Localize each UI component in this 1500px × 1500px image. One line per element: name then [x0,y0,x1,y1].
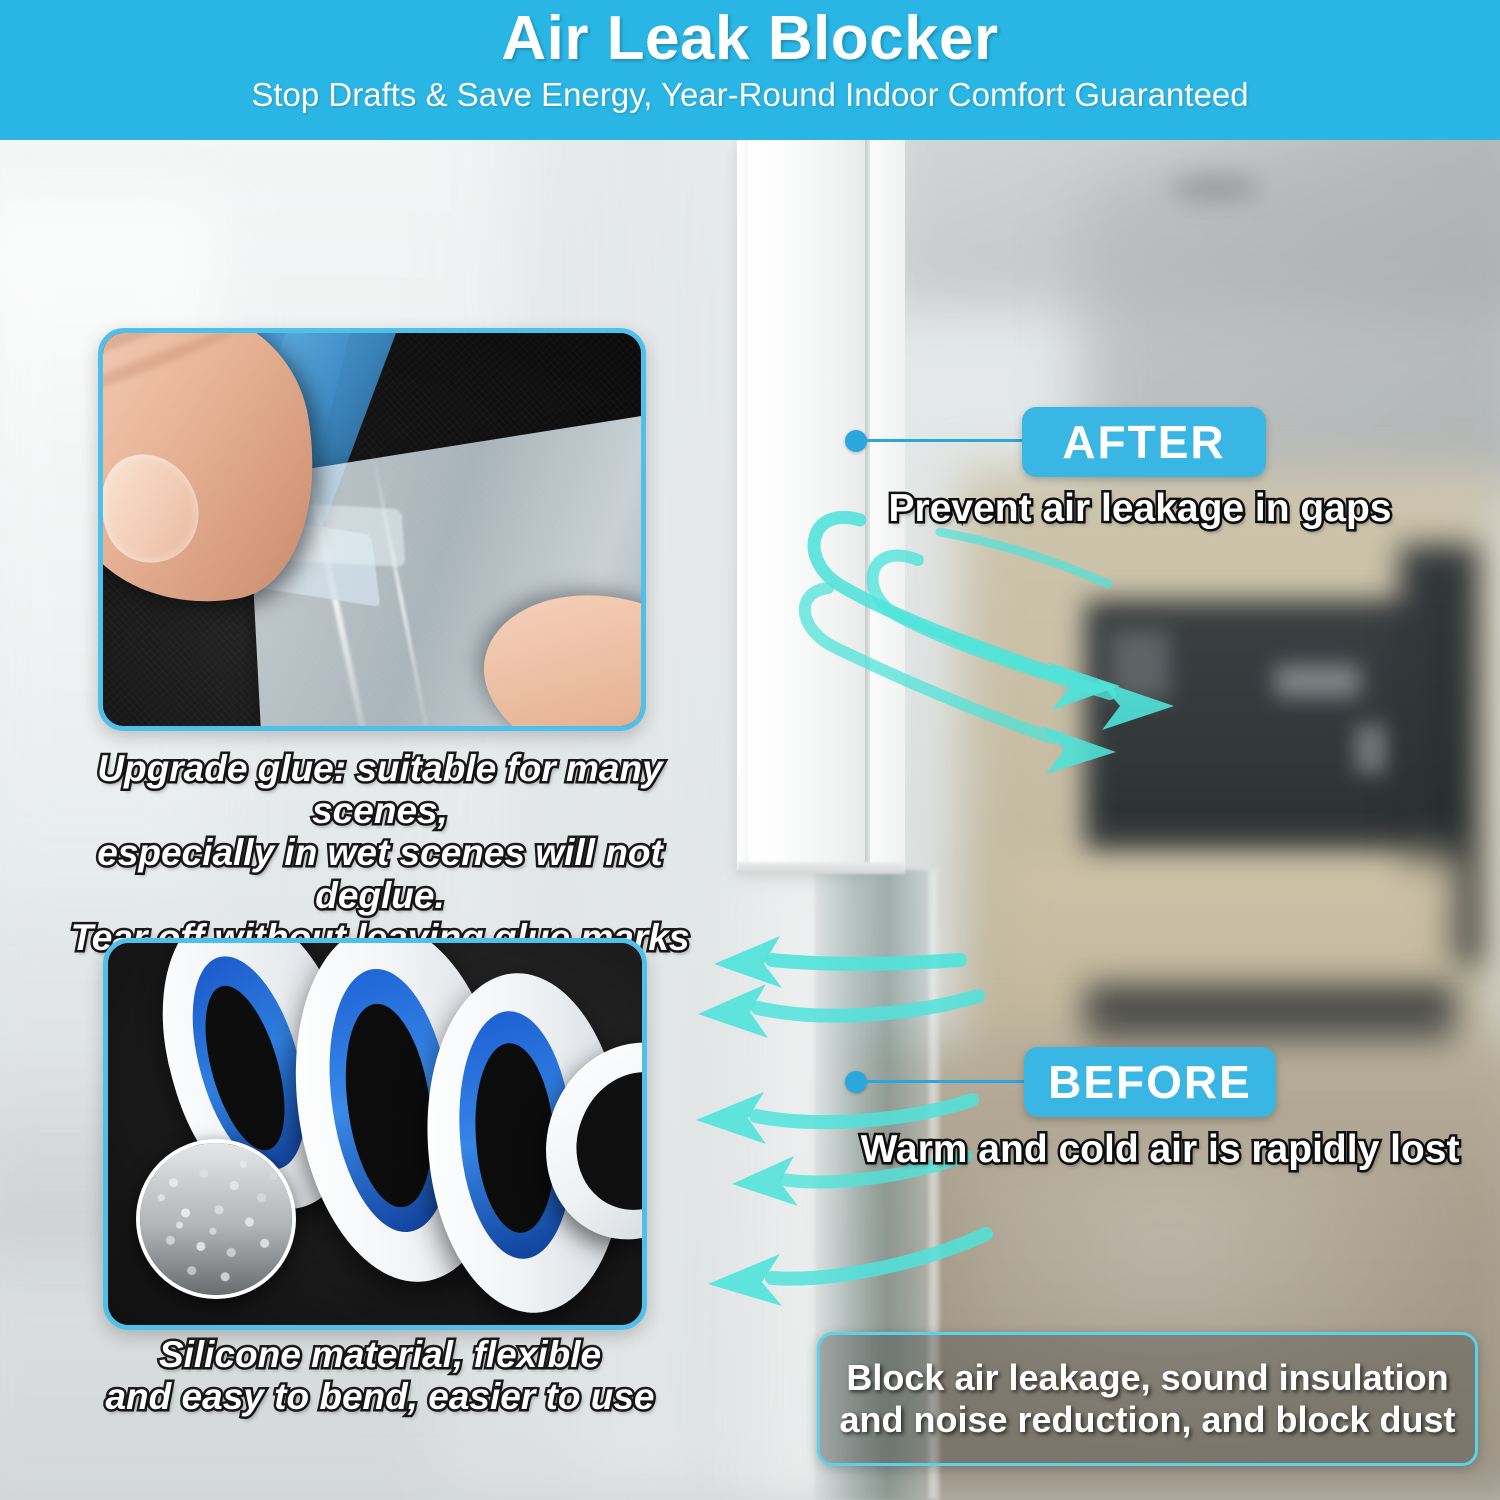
caption-before: Warm and cold air is rapidly lost [860,1128,1460,1172]
feature-photo-silicone-material [103,938,647,1330]
door-frame-panel [737,140,865,870]
door-frame-bottom-edge [737,862,905,874]
caption-silicone-material: Silicone material, flexible and easy to … [60,1334,700,1418]
photo-silicone-content [108,943,642,1325]
leader-line-before [856,1080,1034,1083]
feature-photo-upgrade-glue [98,328,646,731]
page-subtitle: Stop Drafts & Save Energy, Year-Round In… [0,71,1500,113]
badge-before: BEFORE [1024,1047,1276,1117]
caption-upgrade-glue: Upgrade glue: suitable for many scenes, … [30,748,730,959]
background-ceiling-light [1170,175,1260,201]
bottom-callout-box: Block air leakage, sound insulation and … [817,1332,1478,1466]
page-title: Air Leak Blocker [0,0,1500,71]
bottom-callout-text: Block air leakage, sound insulation and … [823,1357,1471,1442]
infographic-canvas: AFTER Prevent air leakage in gaps BEFORE… [0,0,1500,1500]
photo2-pellet-inset-circle [136,1139,296,1299]
photo2-silicone-pellets [140,1143,292,1295]
door-frame-highlight [739,140,748,870]
background-cabinet-item-c [1355,725,1389,773]
leader-line-after [856,439,1032,442]
caption-after: Prevent air leakage in gaps [860,487,1420,531]
background-cabinet-item-a [1110,630,1170,700]
caption-upgrade-glue-line2: especially in wet scenes will not deglue… [30,832,730,916]
bottom-callout-line1: Block air leakage, sound insulation [839,1357,1455,1399]
caption-silicone-line2: and easy to bend, easier to use [60,1376,700,1418]
caption-silicone-line1: Silicone material, flexible [60,1334,700,1376]
header-band: Air Leak Blocker Stop Drafts & Save Ener… [0,0,1500,140]
bottom-callout-line2: and noise reduction, and block dust [839,1399,1455,1441]
glass-door-sheen [700,880,830,1500]
caption-upgrade-glue-line1: Upgrade glue: suitable for many scenes, [30,748,730,832]
badge-after: AFTER [1022,407,1266,477]
background-cabinet-item-b [1275,665,1360,697]
photo-upgrade-glue-content [103,333,641,726]
